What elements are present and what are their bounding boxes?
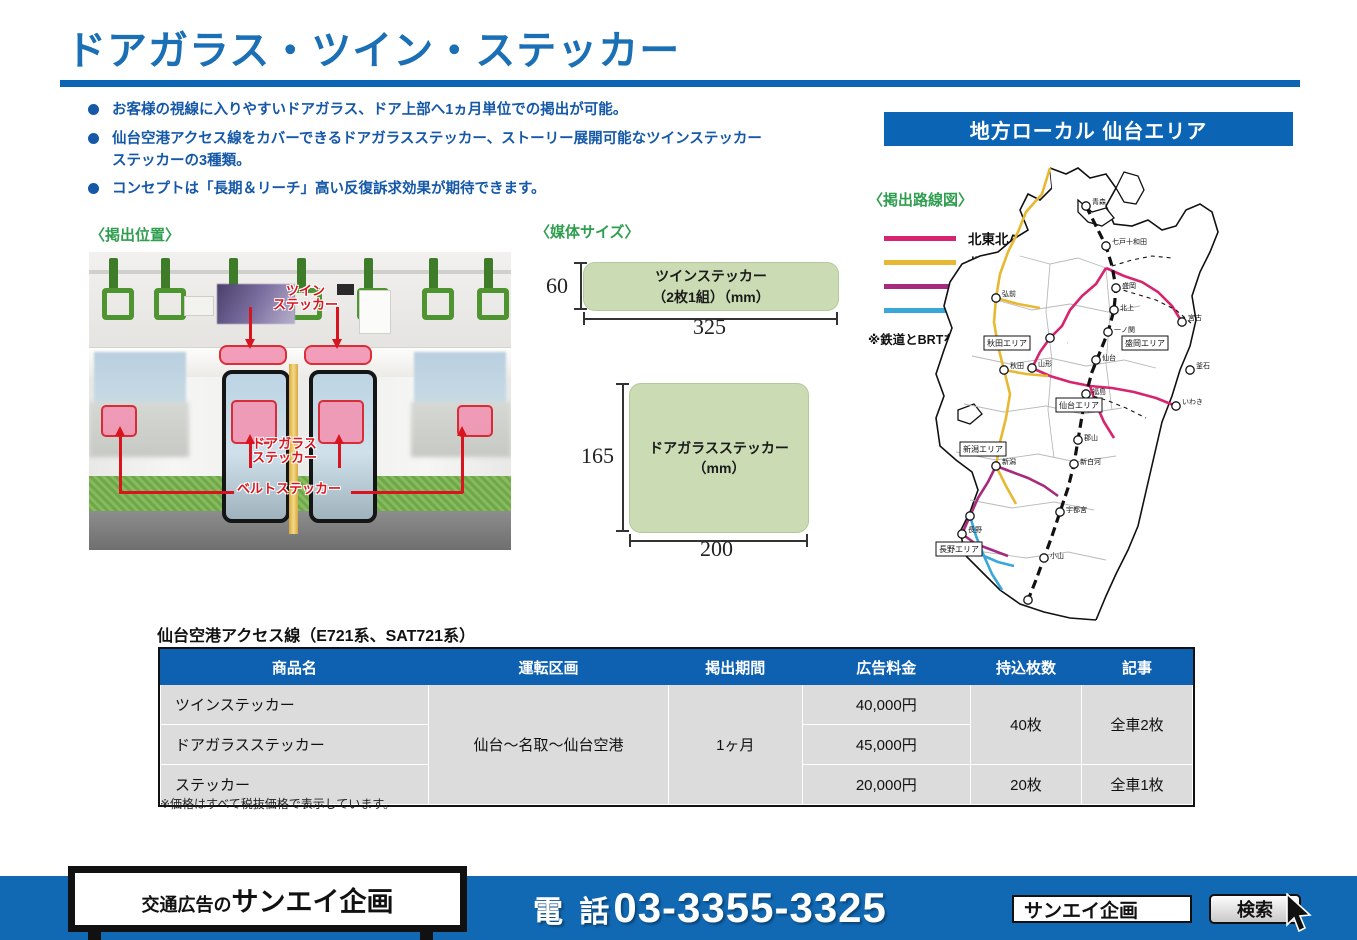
notice-plate [184, 296, 214, 316]
belt-arrow-left [119, 436, 122, 493]
cell-section: 仙台～名取～仙台空港 [428, 685, 668, 805]
twin-sticker-label: ツインステッカー [655, 266, 767, 286]
svg-text:仙台: 仙台 [1102, 353, 1116, 362]
svg-text:秋田: 秋田 [1010, 361, 1024, 370]
map-area-label: 秋田エリア [987, 338, 1027, 348]
belt-arrow-right [461, 436, 464, 493]
telephone-label: 電 話 [533, 896, 613, 929]
dim-tick [629, 534, 631, 547]
hanging-strap-icon [429, 258, 438, 292]
cell-price: 40,000円 [802, 685, 970, 725]
svg-text:小山: 小山 [1050, 551, 1064, 560]
col-note: 記事 [1081, 650, 1192, 685]
caption-media-size: 〈媒体サイズ〉 [535, 221, 640, 242]
hanging-strap-icon [109, 258, 118, 292]
bullet-dot-icon [88, 104, 99, 115]
floor [89, 511, 511, 550]
caption-position: 〈掲出位置〉 [90, 224, 180, 245]
twin-sticker-diagram: ツインステッカー （2枚1組）（mm） [583, 262, 839, 311]
belt-leader-left [119, 491, 234, 494]
arrow-door-right [338, 444, 341, 468]
belt-leader-right [351, 491, 463, 494]
label-twin-sticker: ツイン ステッカー [273, 284, 338, 311]
door-sticker-sublabel: （mm） [693, 458, 746, 478]
dim-line [580, 262, 582, 309]
svg-text:新潟: 新潟 [1002, 457, 1016, 466]
twin-height-value: 60 [546, 273, 568, 299]
cell-price: 20,000円 [802, 765, 970, 805]
dim-tick [583, 312, 585, 325]
table-row: ツインステッカー 仙台～名取～仙台空港 1ヶ月 40,000円 40枚 全車2枚 [161, 685, 1193, 725]
svg-text:福島: 福島 [1092, 387, 1106, 396]
twin-width-value: 325 [693, 314, 726, 340]
bullet-dot-icon [88, 183, 99, 194]
map-area-label: 新潟エリア [963, 444, 1003, 454]
telephone-number: 03-3355-3325 [613, 884, 887, 931]
company-plate-text: 交通広告のサンエイ企画 [142, 880, 394, 919]
bullet-text: コンセプトは「長期＆リーチ」高い反復訴求効果が期待できます。 [112, 181, 546, 197]
telephone-block: 電 話03-3355-3325 [533, 884, 887, 932]
svg-text:釜石: 釜石 [1196, 361, 1210, 370]
twin-sticker-sublabel: （2枚1組）（mm） [652, 287, 769, 307]
bullet-text-line2: ステッカーの3種類。 [112, 151, 878, 173]
bullet-text: 仙台空港アクセス線をカバーできるドアガラスステッカー、ストーリー展開可能なツイン… [112, 131, 762, 147]
cell-note: 全車1枚 [1081, 765, 1192, 805]
mouse-cursor-icon [1285, 893, 1315, 940]
col-price: 広告料金 [802, 650, 970, 685]
company-prefix: 交通広告の [142, 895, 232, 915]
table-note: ※価格はすべて税抜価格で表示しています。 [160, 795, 395, 812]
svg-text:山形: 山形 [1038, 359, 1052, 368]
svg-text:弘前: 弘前 [1002, 289, 1016, 298]
list-item: コンセプトは「長期＆リーチ」高い反復訴求効果が期待できます。 [88, 179, 878, 201]
door-window-right [309, 370, 377, 523]
svg-text:長野: 長野 [968, 526, 982, 534]
svg-text:盛岡: 盛岡 [1122, 281, 1136, 290]
cell-sheets: 20枚 [970, 765, 1081, 805]
col-section: 運転区画 [428, 650, 668, 685]
bullet-dot-icon [88, 133, 99, 144]
dim-tick [574, 262, 587, 264]
cell-sheets: 40枚 [970, 685, 1081, 765]
hanging-strap-icon [484, 258, 493, 292]
title-divider [60, 80, 1300, 87]
page-title: ドアガラス・ツイン・ステッカー [66, 18, 680, 76]
svg-text:宮古: 宮古 [1188, 313, 1202, 322]
dim-line [622, 383, 624, 531]
door-notice-sheet [359, 290, 391, 334]
list-item: お客様の視線に入りやすいドアガラス、ドア上部へ1ヵ月単位での掲出が可能。 [88, 100, 878, 122]
label-door-glass-sticker: ドアガラス ステッカー [252, 437, 317, 464]
svg-text:北上: 北上 [1120, 303, 1134, 312]
dim-tick [616, 383, 629, 385]
table-title: 仙台空港アクセス線（E721系、SAT721系） [157, 622, 475, 646]
slide-page: ドアガラス・ツイン・ステッカー お客様の視線に入りやすいドアガラス、ドア上部へ1… [0, 0, 1357, 940]
svg-text:郡山: 郡山 [1084, 433, 1098, 442]
door-height-value: 165 [581, 443, 614, 469]
door-glass-sticker-diagram: ドアガラスステッカー （mm） [629, 383, 809, 533]
tohoku-route-map: 秋田エリア 盛岡エリア 仙台エリア 新潟エリア 長野エリア 青森七戸十和田 盛岡… [900, 160, 1300, 630]
svg-text:七戸十和田: 七戸十和田 [1112, 237, 1147, 246]
dim-tick [836, 312, 838, 325]
bullet-list: お客様の視線に入りやすいドアガラス、ドア上部へ1ヵ月単位での掲出が可能。 仙台空… [88, 100, 878, 208]
train-interior-photo: ツイン ステッカー ドアガラス ステッカー ベルトステッカー [89, 252, 511, 550]
hanging-strap-icon [364, 258, 373, 292]
svg-text:一ノ関: 一ノ関 [1114, 326, 1135, 334]
company-name: サンエイ企画 [232, 887, 394, 917]
label-belt-sticker: ベルトステッカー [237, 482, 341, 496]
bullet-text: お客様の視線に入りやすいドアガラス、ドア上部へ1ヵ月単位での掲出が可能。 [112, 102, 627, 118]
dim-tick [616, 530, 629, 532]
arrow-twin-left [249, 307, 252, 341]
col-period: 掲出期間 [669, 650, 803, 685]
cell-note: 全車2枚 [1081, 685, 1192, 765]
arrow-twin-right [336, 307, 339, 341]
svg-text:青森: 青森 [1092, 197, 1106, 206]
col-product: 商品名 [161, 650, 429, 685]
svg-text:いわき: いわき [1182, 398, 1203, 406]
company-plate: 交通広告のサンエイ企画 [68, 866, 467, 932]
dim-tick [574, 308, 587, 310]
cell-period: 1ヶ月 [669, 685, 803, 805]
map-area-label: 長野エリア [939, 545, 979, 554]
black-panel [337, 284, 354, 295]
label-twin-line2: ステッカー [273, 297, 338, 312]
route-map-svg: 秋田エリア 盛岡エリア 仙台エリア 新潟エリア 長野エリア 青森七戸十和田 盛岡… [900, 160, 1300, 630]
map-area-label: 盛岡エリア [1125, 338, 1165, 348]
cell-product: ツインステッカー [161, 685, 429, 725]
rate-table: 商品名 運転区画 掲出期間 広告料金 持込枚数 記事 ツインステッカー 仙台～名… [160, 649, 1193, 805]
cell-product: ドアガラスステッカー [161, 725, 429, 765]
dim-tick [806, 534, 808, 547]
svg-text:新白河: 新白河 [1080, 457, 1101, 466]
label-door-line2: ステッカー [252, 450, 317, 465]
area-header: 地方ローカル 仙台エリア [884, 112, 1293, 146]
map-area-label: 仙台エリア [1059, 400, 1099, 410]
col-sheets: 持込枚数 [970, 650, 1081, 685]
svg-text:宇都宮: 宇都宮 [1066, 505, 1087, 514]
cell-price: 45,000円 [802, 725, 970, 765]
search-input[interactable]: サンエイ企画 [1012, 895, 1192, 923]
table-header-row: 商品名 運転区画 掲出期間 広告料金 持込枚数 記事 [161, 650, 1193, 685]
list-item: 仙台空港アクセス線をカバーできるドアガラスステッカー、ストーリー展開可能なツイン… [88, 129, 878, 173]
door-sticker-label: ドアガラスステッカー [649, 438, 789, 458]
hanging-strap-icon [161, 258, 170, 292]
door-width-value: 200 [700, 536, 733, 562]
